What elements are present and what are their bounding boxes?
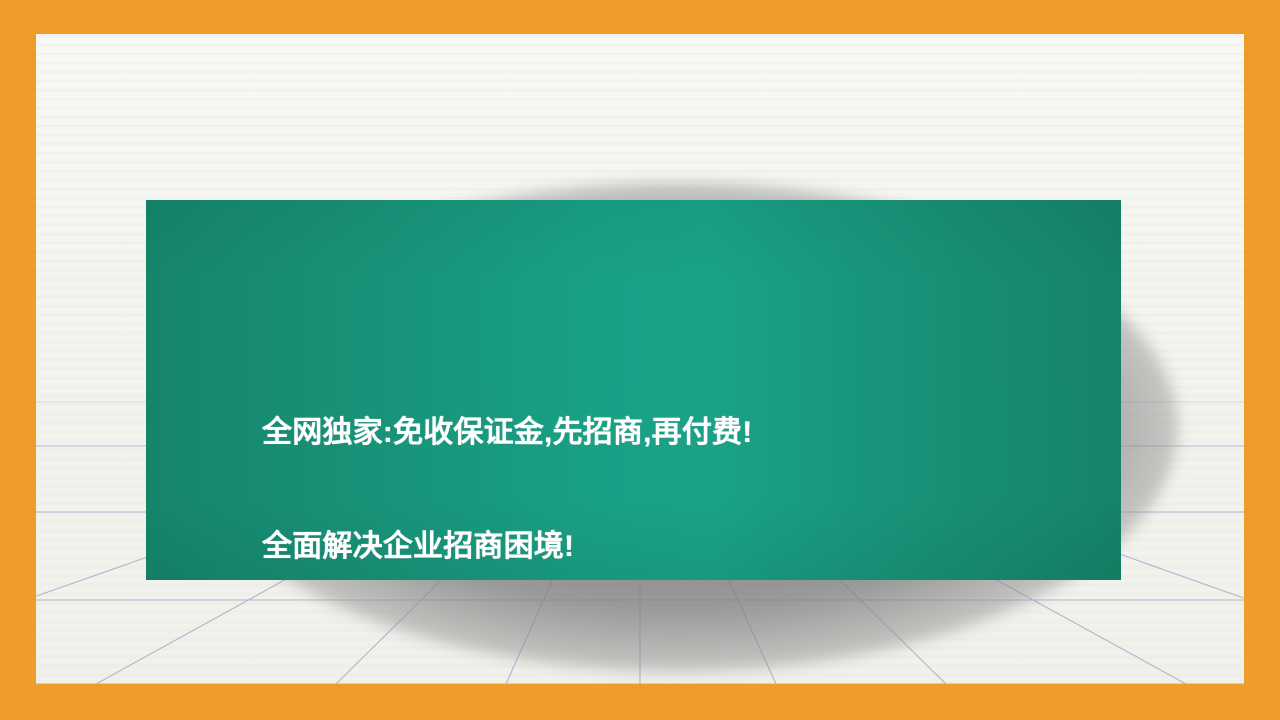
text-line-2: 全面解决企业招商困境! [262, 528, 1111, 566]
presentation-stage: 全网独家:免收保证金,先招商,再付费! 全面解决企业招商困境! 合作即签订保障协… [36, 34, 1244, 684]
green-content-panel: 全网独家:免收保证金,先招商,再付费! 全面解决企业招商困境! 合作即签订保障协… [146, 200, 1121, 580]
text-line-1: 全网独家:免收保证金,先招商,再付费! [262, 414, 1111, 452]
panel-text-block: 全网独家:免收保证金,先招商,再付费! 全面解决企业招商困境! 合作即签订保障协… [262, 224, 1111, 684]
paragraph-headline: 全网独家:免收保证金,先招商,再付费! 全面解决企业招商困境! [262, 338, 1111, 642]
slide-root: 全网独家:免收保证金,先招商,再付费! 全面解决企业招商困境! 合作即签订保障协… [0, 0, 1280, 720]
